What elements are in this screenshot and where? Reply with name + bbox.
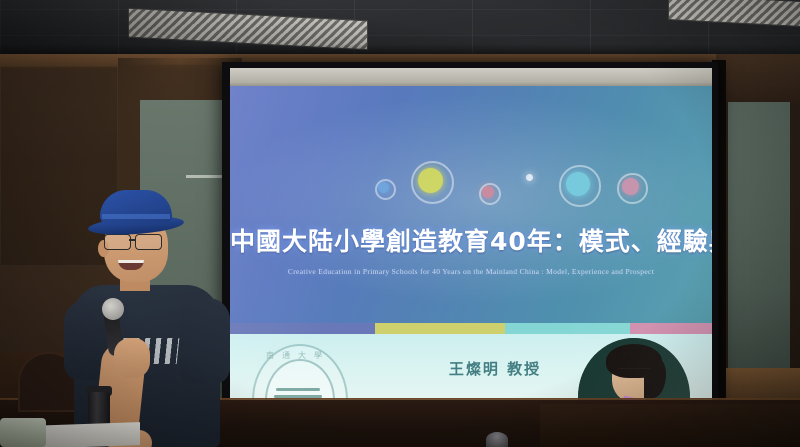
- band-yellow: [375, 323, 505, 334]
- dot-cyan-large-ring: [559, 165, 600, 206]
- door-handle[interactable]: [186, 175, 222, 178]
- portrait-glasses: [618, 368, 650, 376]
- stacked-documents[interactable]: [0, 418, 46, 447]
- dot-yellow-large-ring: [411, 161, 454, 204]
- dot-white-tiny: [526, 174, 533, 181]
- dot-pink-medium-ring: [617, 173, 648, 204]
- band-pink: [630, 323, 712, 334]
- glasses-lens-right: [135, 234, 162, 250]
- slide-color-band: [230, 323, 712, 334]
- logo-chevron-icon: [276, 388, 320, 391]
- glasses-lens-left: [104, 234, 131, 250]
- presenter-hand: [114, 338, 150, 378]
- desk-knob: [486, 432, 508, 447]
- slide-speaker-portrait: [578, 338, 690, 402]
- slide-subtitle: Creative Education in Primary Schools fo…: [230, 267, 712, 276]
- dot-blue-small-ring: [375, 179, 396, 200]
- glasses-icon: [104, 234, 166, 248]
- desk-front-right: [540, 404, 800, 447]
- papers-on-desk[interactable]: [30, 422, 140, 447]
- slide-lower-panel: 南通大學 1912 王燦明 教授 南通大學創造教育研究所所長: [230, 334, 712, 402]
- slide-speaker-name: 王燦明 教授: [380, 358, 610, 379]
- presenter-sleeve-right: [180, 298, 230, 384]
- right-door-frame-top: [716, 54, 800, 104]
- glasses-bridge: [129, 239, 135, 241]
- band-cyan: [505, 323, 630, 334]
- ceiling: [0, 0, 800, 62]
- slide-title: 中國大陆小學創造教育40年：模式、經驗與展望: [230, 222, 712, 258]
- bucket-hat-band: [102, 214, 170, 219]
- right-glass-panel: [728, 102, 790, 370]
- screen-top-band: [230, 68, 712, 88]
- band-blue: [230, 323, 375, 334]
- projection-screen: 中國大陆小學創造教育40年：模式、經驗與展望 Creative Educatio…: [230, 68, 712, 402]
- slide-projector-glow: [230, 86, 712, 323]
- university-logo: 南通大學 1912: [252, 344, 344, 402]
- screenshot-frame: 中國大陆小學創造教育40年：模式、經驗與展望 Creative Educatio…: [0, 0, 800, 447]
